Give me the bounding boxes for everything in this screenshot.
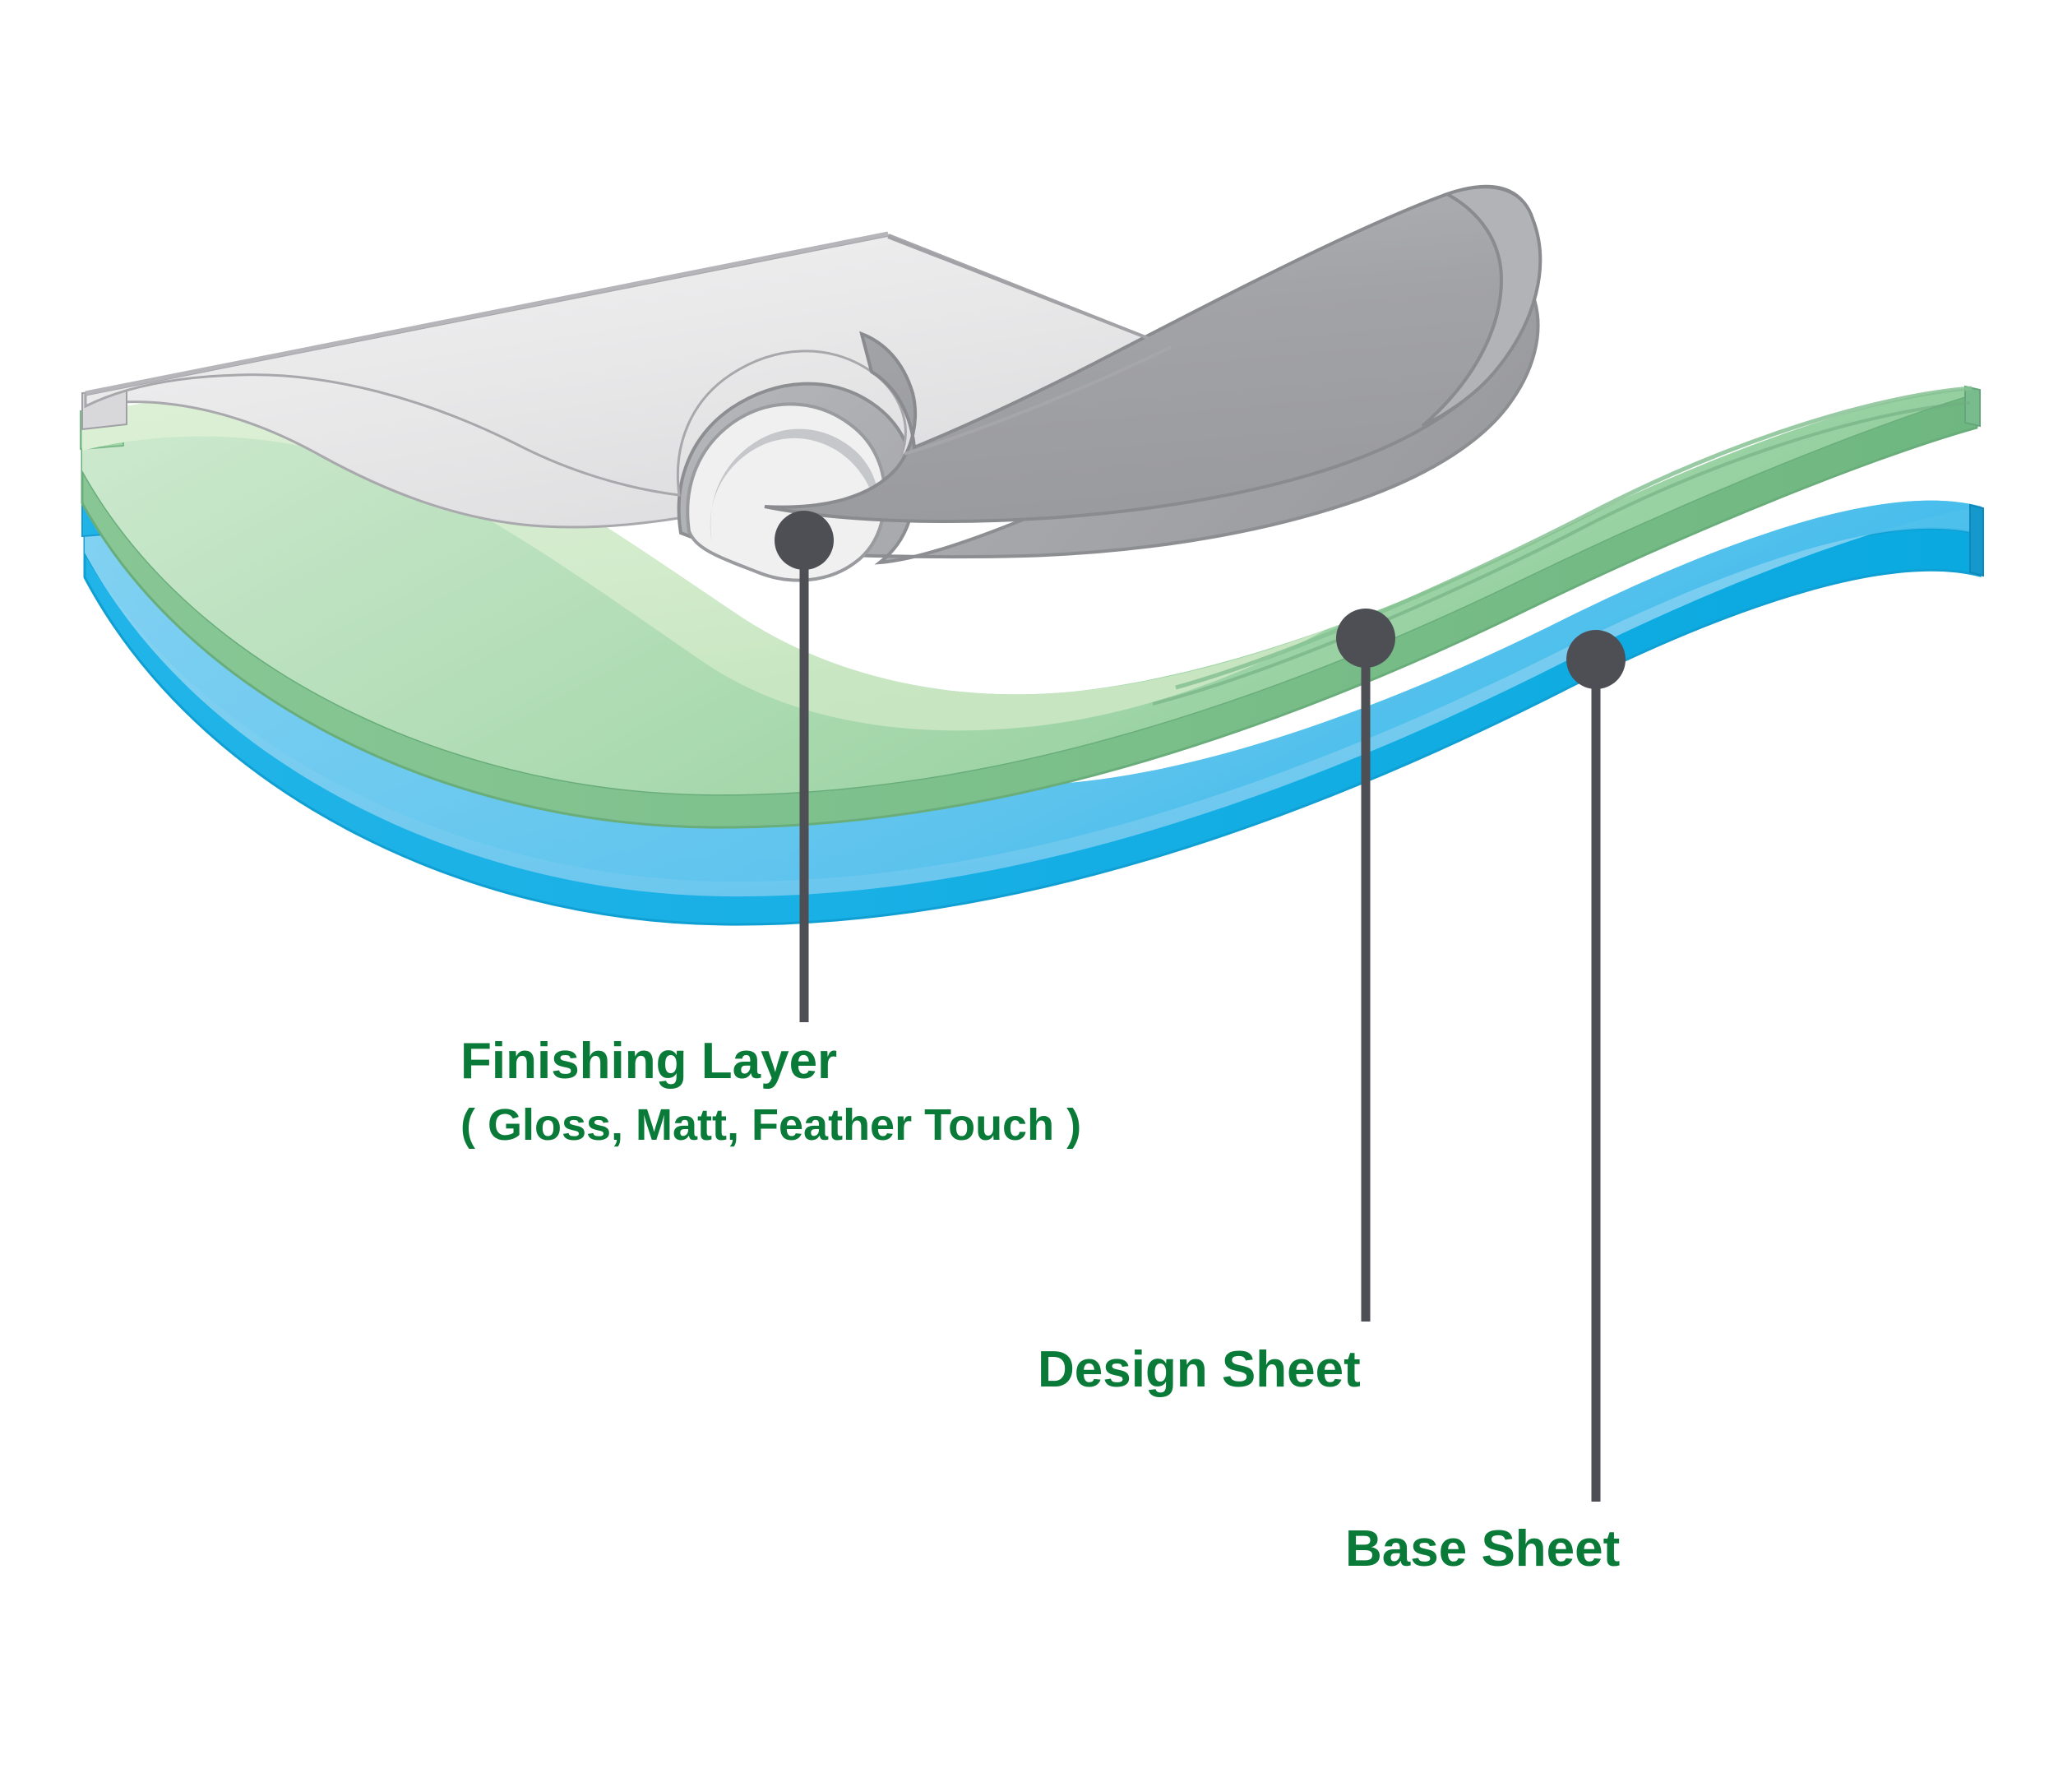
label-design-sheet-title: Design Sheet: [1038, 1341, 1361, 1398]
label-finishing-layer-sublabel: ( Gloss, Matt, Feather Touch ): [460, 1099, 1081, 1151]
label-finishing-layer-title: Finishing Layer: [460, 1033, 837, 1090]
leader-dot-finishing[interactable]: [775, 511, 834, 570]
label-finishing-layer: Finishing Layer ( Gloss, Matt, Feather T…: [460, 1032, 1081, 1151]
base-sheet-right-tip: [1970, 505, 1983, 576]
leader-dot-base[interactable]: [1566, 630, 1626, 689]
layered-sheet-illustration: [0, 0, 2072, 1773]
label-base-sheet-title: Base Sheet: [1345, 1521, 1620, 1577]
diagram-canvas: Finishing Layer ( Gloss, Matt, Feather T…: [0, 0, 2072, 1773]
label-design-sheet: Design Sheet: [1038, 1340, 1361, 1400]
label-base-sheet: Base Sheet: [1345, 1520, 1620, 1579]
design-sheet-right-tip: [1965, 387, 1980, 426]
leader-dot-design[interactable]: [1336, 609, 1395, 668]
